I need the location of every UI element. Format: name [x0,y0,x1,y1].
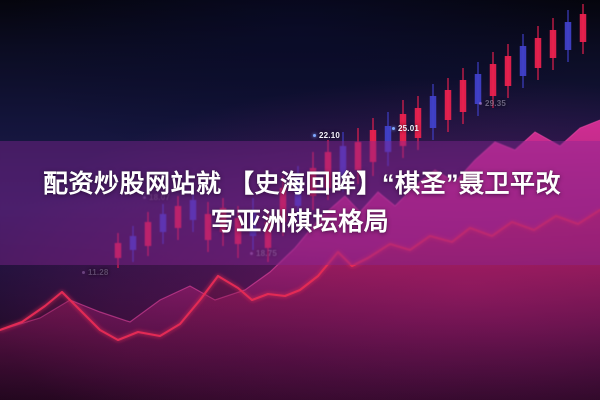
price-label: 29.35 [479,99,506,108]
headline-line-2: 写亚洲棋坛格局 [211,204,390,240]
price-label-text: 11.28 [88,268,109,277]
price-marker-dot-icon [479,102,482,105]
price-label-text: 29.35 [485,99,506,108]
price-marker-dot-icon [313,134,316,137]
price-label-text: 22.10 [319,131,340,140]
price-marker-dot-icon [82,271,85,274]
price-label: 25.01 [392,124,419,133]
price-label: 22.10 [313,131,340,140]
price-label: 11.28 [82,268,109,277]
price-marker-dot-icon [392,127,395,130]
price-label-text: 25.01 [398,124,419,133]
headline-text-group: 配资炒股网站就 【史海回眸】“棋圣”聂卫平改 写亚洲棋坛格局 [0,141,600,265]
headline-line-1: 配资炒股网站就 【史海回眸】“棋圣”聂卫平改 [39,166,561,202]
news-banner: 22.1025.0129.3518.0718.7511.28 配资炒股网站就 【… [0,0,600,400]
